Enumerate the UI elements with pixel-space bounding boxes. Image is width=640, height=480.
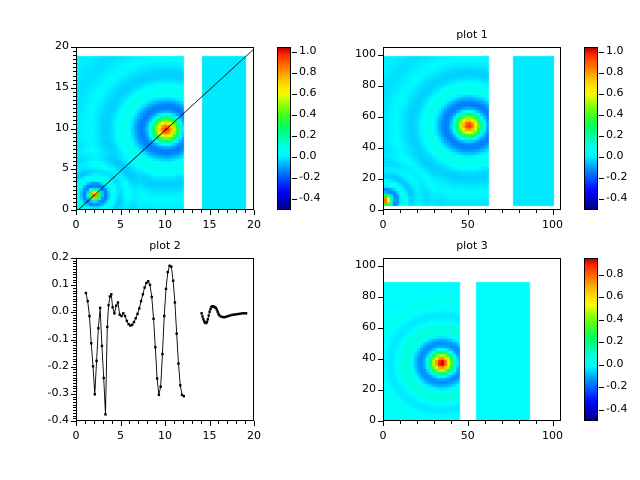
colorbar-tick-label: 0.8 [606, 267, 624, 280]
ytick-label: 40 [335, 351, 376, 364]
colorbar [584, 258, 598, 421]
plot-title: plot 3 [402, 239, 542, 252]
xtick-minor [417, 421, 418, 424]
ytick-major [378, 328, 383, 329]
xtick-minor [536, 421, 537, 424]
xtick-minor [519, 421, 520, 424]
colorbar-tick-label: 0.2 [606, 334, 624, 347]
xtick-minor [502, 421, 503, 424]
colorbar-tick-label: -0.4 [606, 402, 627, 415]
xtick-major [383, 421, 384, 426]
ytick-label: 60 [335, 320, 376, 333]
xtick-minor [400, 421, 401, 424]
xtick-label: 100 [528, 429, 578, 442]
heatmap-image [384, 259, 561, 421]
colorbar-tick [599, 387, 604, 388]
colorbar-tick [599, 320, 604, 321]
ytick-major [378, 266, 383, 267]
colorbar-tick-label: 0.0 [606, 357, 624, 370]
xtick-major [468, 421, 469, 426]
colorbar-tick [599, 365, 604, 366]
ytick-label: 0 [335, 413, 376, 426]
colorbar-tick [599, 297, 604, 298]
axes-plot3 [383, 258, 561, 421]
colorbar-tick-label: 0.6 [606, 289, 624, 302]
ytick-label: 80 [335, 289, 376, 302]
ytick-major [378, 359, 383, 360]
xtick-major [553, 421, 554, 426]
ytick-major [378, 297, 383, 298]
xtick-minor [451, 421, 452, 424]
colorbar-tick [599, 275, 604, 276]
xtick-minor [434, 421, 435, 424]
ytick-major [378, 390, 383, 391]
xtick-label: 50 [443, 429, 493, 442]
figure-canvas: 0510152005101520-0.4-0.20.00.20.40.60.81… [0, 0, 640, 480]
xtick-label: 0 [358, 429, 408, 442]
xtick-minor [485, 421, 486, 424]
colorbar-tick [599, 342, 604, 343]
colorbar-tick-label: -0.2 [606, 379, 627, 392]
panel-plot3: 020406080100050100plot 3-0.4-0.20.00.20.… [0, 0, 640, 480]
colorbar-tick-label: 0.4 [606, 312, 624, 325]
ytick-label: 20 [335, 382, 376, 395]
ytick-label: 100 [335, 258, 376, 271]
colorbar-tick [599, 410, 604, 411]
